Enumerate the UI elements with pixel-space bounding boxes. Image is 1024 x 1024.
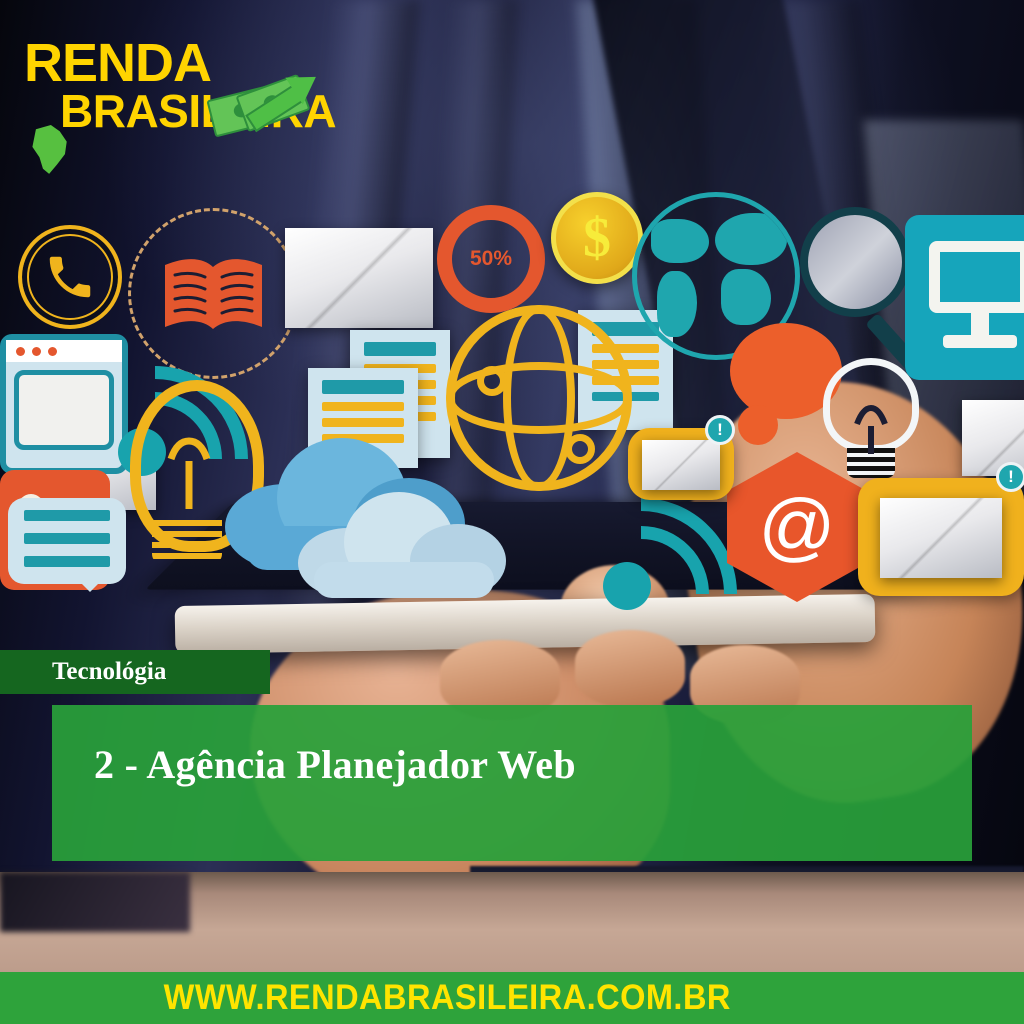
notification-badge-icon: ! [996,462,1024,492]
wifi-icon [545,498,710,608]
money-arrow-up-icon [210,66,320,136]
phone-icon [18,225,122,329]
chat-line [24,533,110,544]
notification-label: ! [717,420,723,440]
lightbulb-icon [823,358,919,478]
notification-badge-icon: ! [705,415,735,445]
envelope-icon [285,228,433,328]
wireframe-globe-icon [446,305,632,491]
chat-line [24,510,110,521]
monitor-icon [905,215,1024,380]
desk-shadow [0,872,190,932]
footer-bar: WWW.RENDABRASILEIRA.COM.BR [0,972,1024,1024]
dollar-coin-icon: $ [551,192,643,284]
logo-line-renda: RENDA [24,36,211,90]
open-book-icon [128,208,299,379]
chat-line [24,556,110,567]
dollar-symbol: $ [583,210,611,266]
discount-label: 50% [470,247,512,271]
window-dot-icon [16,347,25,356]
category-label: Tecnológia [0,658,166,686]
notification-label: ! [1008,467,1014,487]
magnifier-icon [800,207,910,317]
logo[interactable]: RENDA BRASILEIRA [14,36,314,146]
chat-bubble-icon [8,498,126,584]
lightbulb-base-icon [152,520,222,564]
window-dot-icon [32,347,41,356]
poster-canvas: 50% $ @ [0,0,1024,1024]
discount-ring-icon: 50% [437,205,545,313]
at-symbol: @ [758,489,835,565]
mail-badge-icon [858,478,1024,596]
cloud-icon [298,488,508,598]
title-band: 2 - Agência Planejador Web [52,705,972,861]
footer-url[interactable]: WWW.RENDABRASILEIRA.COM.BR [0,978,731,1018]
category-badge[interactable]: Tecnológia [0,650,270,694]
browser-titlebar [6,340,122,362]
window-dot-icon [48,347,57,356]
page-title: 2 - Agência Planejador Web [94,741,576,788]
